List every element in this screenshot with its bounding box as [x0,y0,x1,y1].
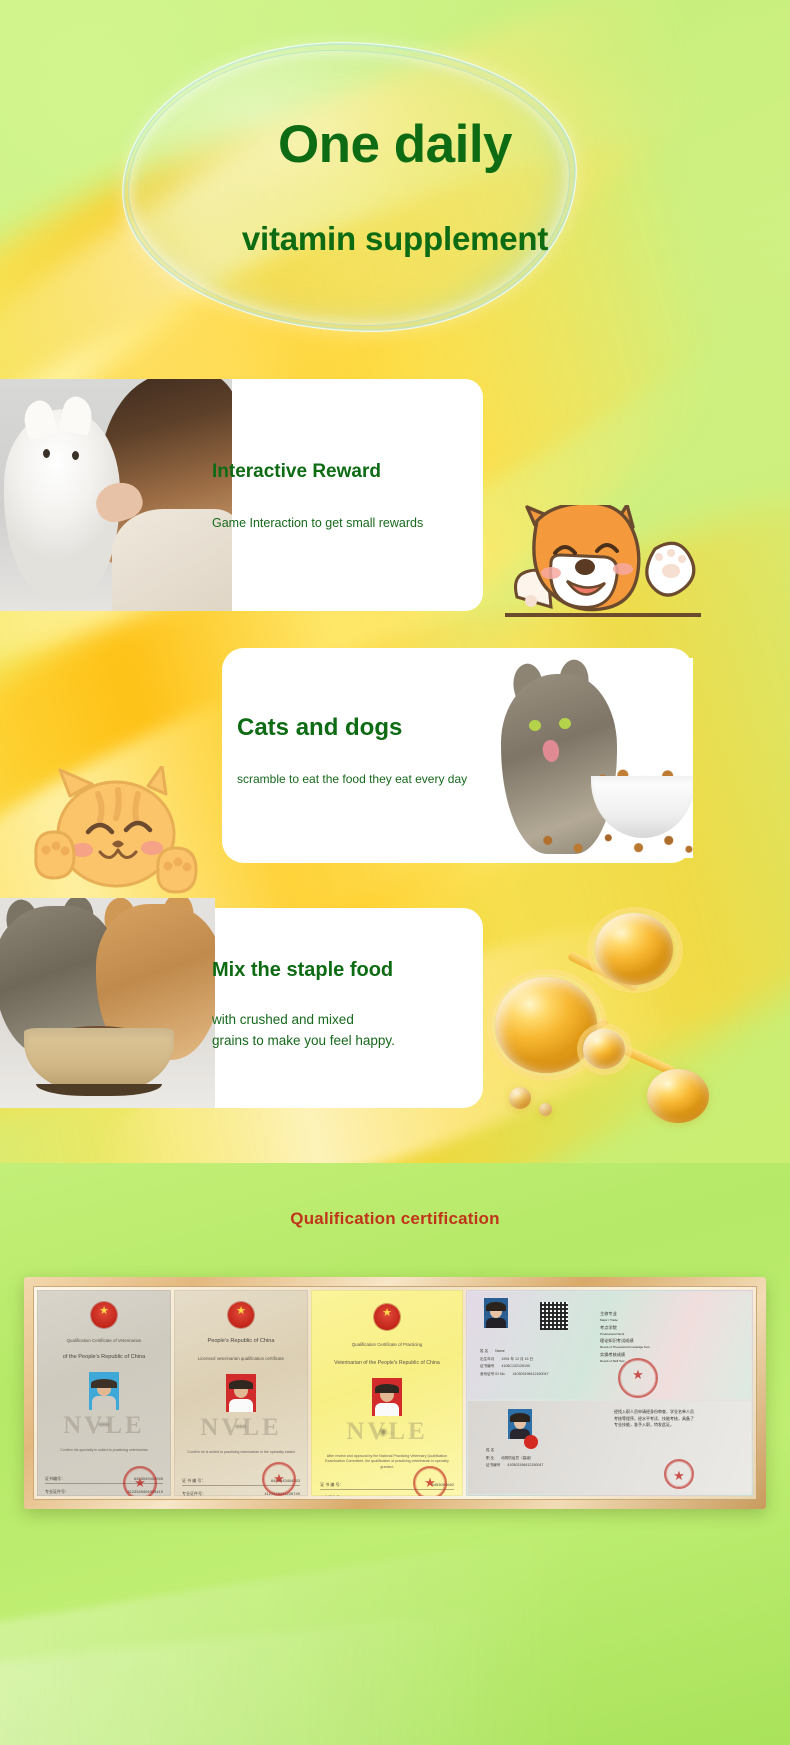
shiba-dog-sticker [505,505,701,635]
national-emblem-icon [374,1304,400,1330]
certificate-line-2: Veterinarian of the People's Republic of… [320,1360,454,1367]
id-field-value: 动物防疫员（高级） [501,1456,533,1460]
national-emblem-icon [91,1302,117,1328]
feature-body-mix-the-staple-food: with crushed and mixed grains to make yo… [212,1010,395,1052]
certificate-line-1: Qualification Certificate of Practicing [320,1342,454,1348]
certificate-portrait-photo [372,1378,402,1416]
hero-title: One daily [0,118,790,171]
id-field-label: 职 业 [486,1456,494,1460]
official-seal-icon [664,1459,694,1489]
certificate-line-2: Licensed veterinarian qualification cert… [182,1356,300,1362]
certificate-field-label: 专业证件号： [320,1495,344,1496]
id-field-row: 证书编号 4108C132126190 [480,1363,590,1371]
feature-photo-interactive-reward [0,379,232,611]
certificate-portrait-photo [226,1374,256,1412]
orange-cat-sticker [30,766,205,896]
id-field-value: 1994 年 12 月 15 日 [501,1357,533,1361]
certificate-footer: Confirm he is suited to practicing veter… [183,1450,298,1455]
feature-body-cats-and-dogs: scramble to eat the food they eat every … [237,770,467,789]
feature-photo-cats-and-dogs [487,658,693,858]
certificate-line-1: Qualification Certificate of Veterinaria… [45,1338,163,1344]
id-field-row: 姓 名 Name [480,1348,590,1356]
id-right-row: 理论知识考试成绩 [600,1337,690,1345]
id-field-row: 职 业 动物防疫员（高级） [486,1455,604,1463]
id-card-right-fields: 主修专业 Major / Trade 考点学院 Professional Wor… [600,1310,690,1365]
soap-bubble-rim-decoration [128,50,570,326]
id-right-row: 主修专业 [600,1310,690,1318]
official-seal-icon [262,1462,296,1496]
id-card-lower: 姓 名 职 业 动物防疫员（高级） 证书编号 41050319641215004… [468,1401,751,1494]
id-field-label: 姓 名 [480,1349,488,1353]
red-star-seal-icon [618,1358,658,1398]
certificate-name: ••• [37,1422,171,1429]
certificate-veterinarian-prc: Qualification Certificate of Veterinaria… [37,1290,171,1496]
certificate-field-label: 证 书 编 号： [182,1478,205,1484]
product-detail-page: One daily vitamin supplement Interactive… [0,0,790,1745]
id-field-label: 出生年月 [480,1357,494,1361]
id-field-value: 410303196412160047 [513,1372,549,1376]
certificate-frame-inner: Qualification Certificate of Veterinaria… [33,1286,757,1500]
certificate-field-label: 专业证件号： [45,1489,69,1495]
certificate-line-2: of the People's Republic of China [44,1354,165,1361]
certificate-name: ••• [174,1424,308,1431]
feature-body-line-2: grains to make you feel happy. [212,1031,395,1052]
feature-photo-mix-the-staple-food [0,898,215,1108]
id-field-value: 410503196412150047 [507,1463,543,1467]
certificate-field-label: 证书编号： [45,1476,65,1482]
feature-title-cats-and-dogs: Cats and dogs [237,716,402,740]
id-portrait-photo [484,1298,508,1328]
hero-subtitle: vitamin supplement [0,222,790,255]
id-field-label: 证书编号 [486,1463,500,1467]
id-field-row: 证书编号 410503196412150047 [486,1462,604,1470]
feature-card-mix-the-staple-food [188,908,483,1108]
id-card-note: 经找入职人员申请经身份审查、学业名单人员考核等程序，经水平考试、技能考核，具备了… [614,1409,694,1428]
honey-molecule-decoration [487,905,722,1120]
id-card-fields: 姓 名 Name 出生年月 1994 年 12 月 15 日 证书编号 4108… [480,1348,590,1378]
id-field-row: 出生年月 1994 年 12 月 15 日 [480,1356,590,1364]
feature-title-interactive-reward: Interactive Reward [212,462,381,481]
feature-card-interactive-reward [200,379,483,611]
qualification-title: Qualification certification [0,1209,790,1229]
certificate-footer: Confirm his specialty is suited to pract… [46,1448,161,1453]
certificate-field-label: 证 书 编 号： [320,1482,343,1488]
id-field-row: 身份证号 ID No. 410303196412160047 [480,1371,590,1379]
id-field-value: 4108C132126190 [501,1364,530,1368]
id-field-row: 姓 名 [486,1447,604,1455]
qr-code-icon [540,1302,568,1330]
id-field-label: 证书编号 [480,1364,494,1368]
official-seal-icon [123,1466,157,1496]
national-emblem-icon [228,1302,254,1328]
certificate-name: 李·· [311,1428,463,1438]
certificate-licensed-veterinarian: People's Republic of China Licensed vete… [174,1290,308,1496]
id-cards-column: 姓 名 Name 出生年月 1994 年 12 月 15 日 证书编号 4108… [466,1290,753,1496]
certificate-frame: Qualification Certificate of Veterinaria… [24,1277,766,1509]
id-card-fields: 姓 名 职 业 动物防疫员（高级） 证书编号 41050319641215004… [486,1447,604,1470]
id-card-upper: 姓 名 Name 出生年月 1994 年 12 月 15 日 证书编号 4108… [468,1292,751,1399]
official-seal-icon [413,1466,447,1496]
certificate-practicing-veterinarian: Qualification Certificate of Practicing … [311,1290,463,1496]
id-field-sub: Name [495,1349,505,1353]
id-right-row: 实操考核成绩 [600,1351,690,1359]
certificate-field-label: 专业证件号： [182,1491,206,1496]
id-field-label: 身份证号 ID No. [480,1372,506,1376]
certificate-portrait-photo [89,1372,119,1410]
feature-body-line-1: with crushed and mixed [212,1010,395,1031]
id-right-row: 考点学院 [600,1324,690,1332]
certificate-line-1: People's Republic of China [181,1338,302,1345]
feature-title-mix-the-staple-food: Mix the staple food [212,960,393,980]
id-field-label: 姓 名 [486,1448,494,1452]
feature-body-interactive-reward: Game Interaction to get small rewards [212,514,423,533]
